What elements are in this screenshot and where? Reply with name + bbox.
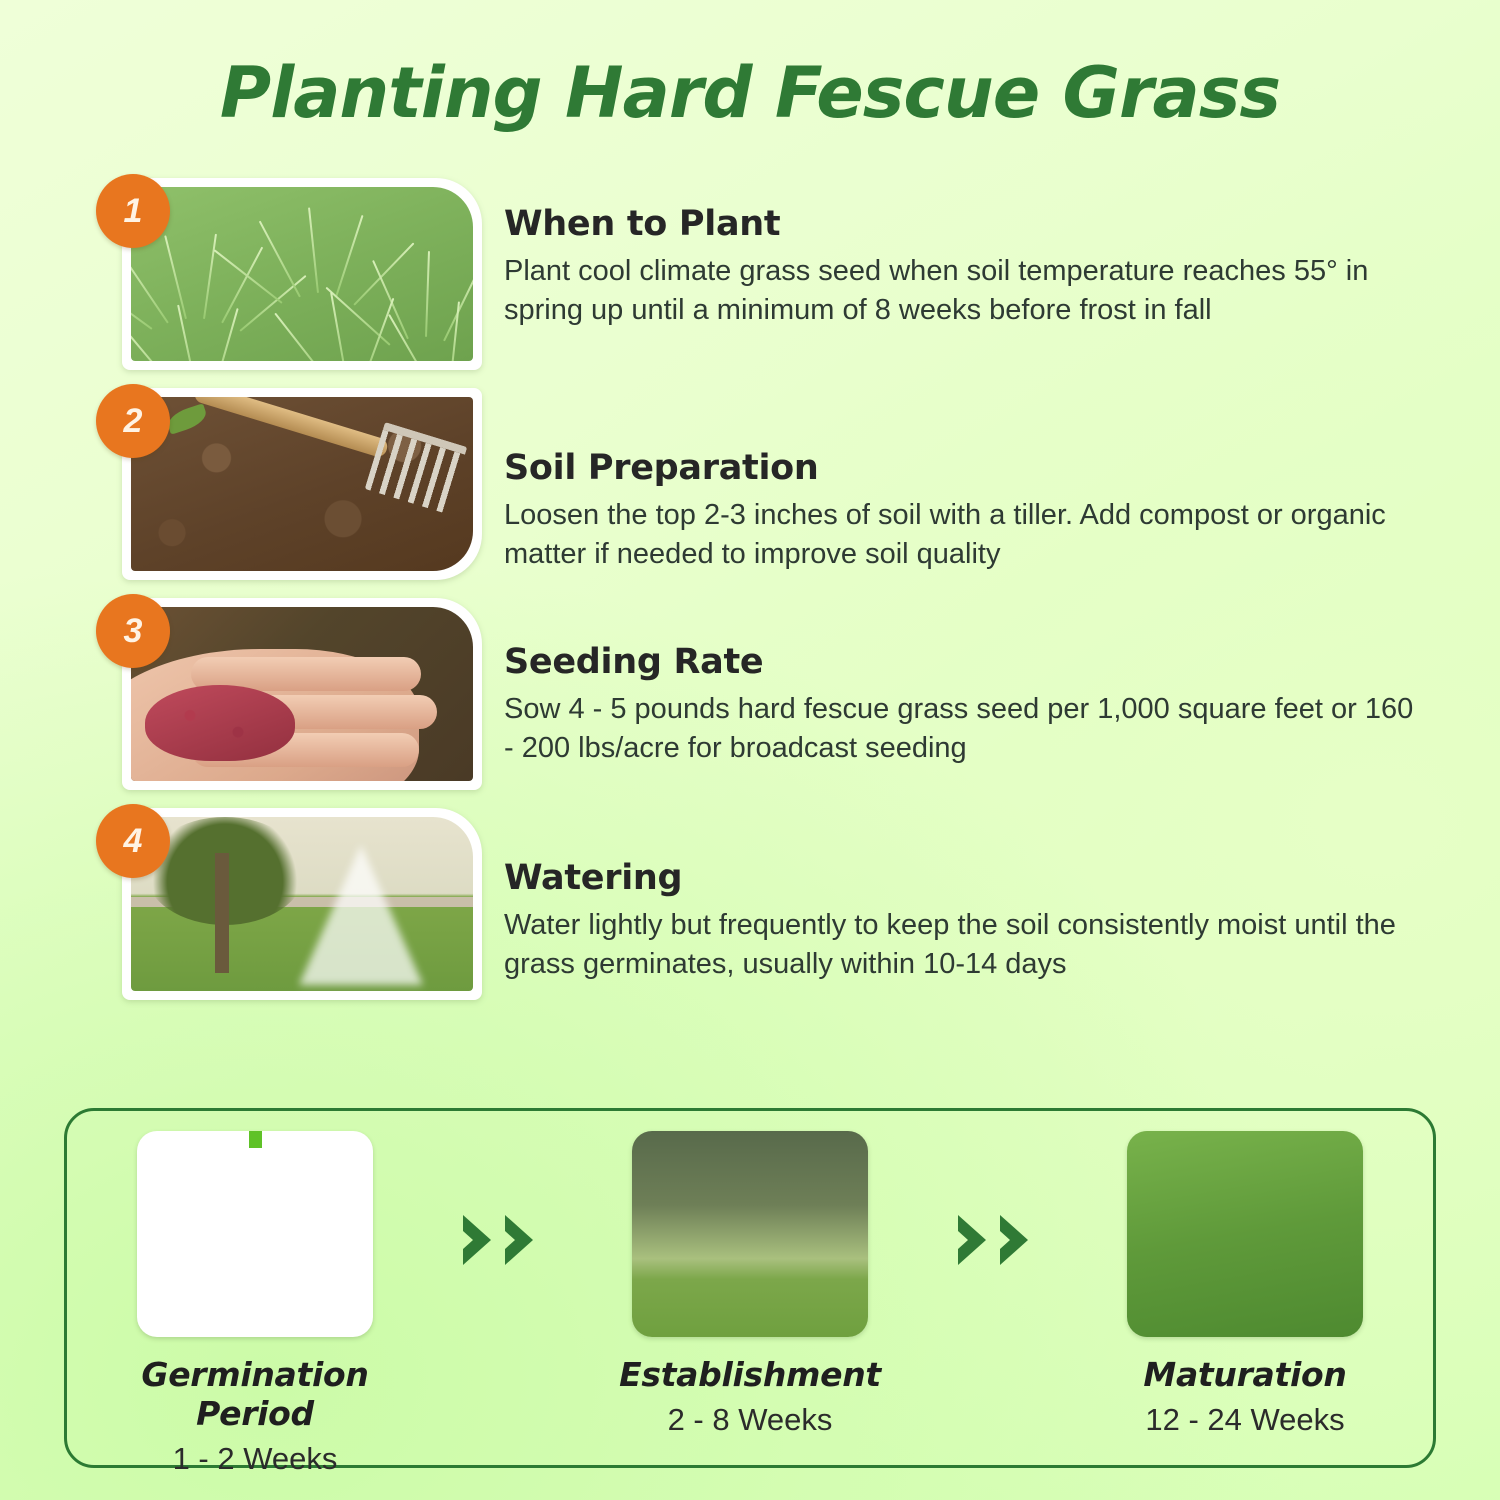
step-4-title: Watering [504,858,1426,898]
step-3-image-card [122,598,482,790]
growth-timeline: Germination Period 1 - 2 Weeks [67,1111,1433,1465]
timeline-label-establishment: Establishment [600,1355,900,1394]
hand-holding-coated-grass-seed-photo [131,607,473,781]
step-1-image-card [122,178,482,370]
timeline-label-maturation: Maturation [1095,1355,1395,1394]
double-chevron-right-icon [455,1209,551,1271]
timeline-value-maturation: 12 - 24 Weeks [1095,1402,1395,1438]
step-2-image-card [122,388,482,580]
step-item-2: 2 Soil Preparation Loosen the top 2-3 in… [96,388,1426,580]
timeline-item-establishment: Establishment 2 - 8 Weeks [600,1131,900,1438]
step-item-4: 4 Watering Water lightly but frequently … [96,808,1426,1000]
step-number-badge-4: 4 [96,804,170,878]
step-4-thumbnail-wrap: 4 [96,808,482,1000]
step-number-badge-2: 2 [96,384,170,458]
step-3-body: Sow 4 - 5 pounds hard fescue grass seed … [504,690,1424,767]
infographic-poster: Planting Hard Fescue Grass 1 [0,0,1500,1500]
step-number-badge-1: 1 [96,174,170,248]
mature-fescue-grass-photo [1127,1131,1363,1337]
step-4-copy: Watering Water lightly but frequently to… [482,808,1426,983]
step-2-title: Soil Preparation [504,448,1426,488]
step-2-body: Loosen the top 2-3 inches of soil with a… [504,496,1424,573]
growth-timeline-panel: Germination Period 1 - 2 Weeks [64,1108,1436,1468]
steps-list: 1 [96,178,1426,1018]
fine-fescue-grass-clumps-photo [131,187,473,361]
step-3-thumbnail-wrap: 3 [96,598,482,790]
step-3-copy: Seeding Rate Sow 4 - 5 pounds hard fescu… [482,598,1426,767]
rake-in-tilled-soil-photo [131,397,473,571]
step-number-badge-3: 3 [96,594,170,668]
step-item-1: 1 [96,178,1426,370]
timeline-item-germination: Germination Period 1 - 2 Weeks [105,1131,405,1477]
step-1-copy: When to Plant Plant cool climate grass s… [482,178,1426,329]
step-1-thumbnail-wrap: 1 [96,178,482,370]
timeline-value-germination: 1 - 2 Weeks [105,1441,405,1477]
step-1-title: When to Plant [504,204,1426,244]
rain-on-young-lawn-photo [632,1131,868,1337]
lawn-sprinkler-watering-photo [131,817,473,991]
step-2-copy: Soil Preparation Loosen the top 2-3 inch… [482,388,1426,573]
step-3-title: Seeding Rate [504,642,1426,682]
step-item-3: 3 Seeding Rate Sow 4 - 5 pounds hard fes… [96,598,1426,790]
step-4-image-card [122,808,482,1000]
timeline-item-maturation: Maturation 12 - 24 Weeks [1095,1131,1395,1438]
double-chevron-right-icon-2 [950,1209,1046,1271]
page-title: Planting Hard Fescue Grass [0,58,1500,128]
timeline-label-germination: Germination Period [105,1355,405,1433]
step-4-body: Water lightly but frequently to keep the… [504,906,1424,983]
sprouting-seed-photo [137,1131,373,1337]
step-1-body: Plant cool climate grass seed when soil … [504,252,1424,329]
step-2-thumbnail-wrap: 2 [96,388,482,580]
timeline-value-establishment: 2 - 8 Weeks [600,1402,900,1438]
